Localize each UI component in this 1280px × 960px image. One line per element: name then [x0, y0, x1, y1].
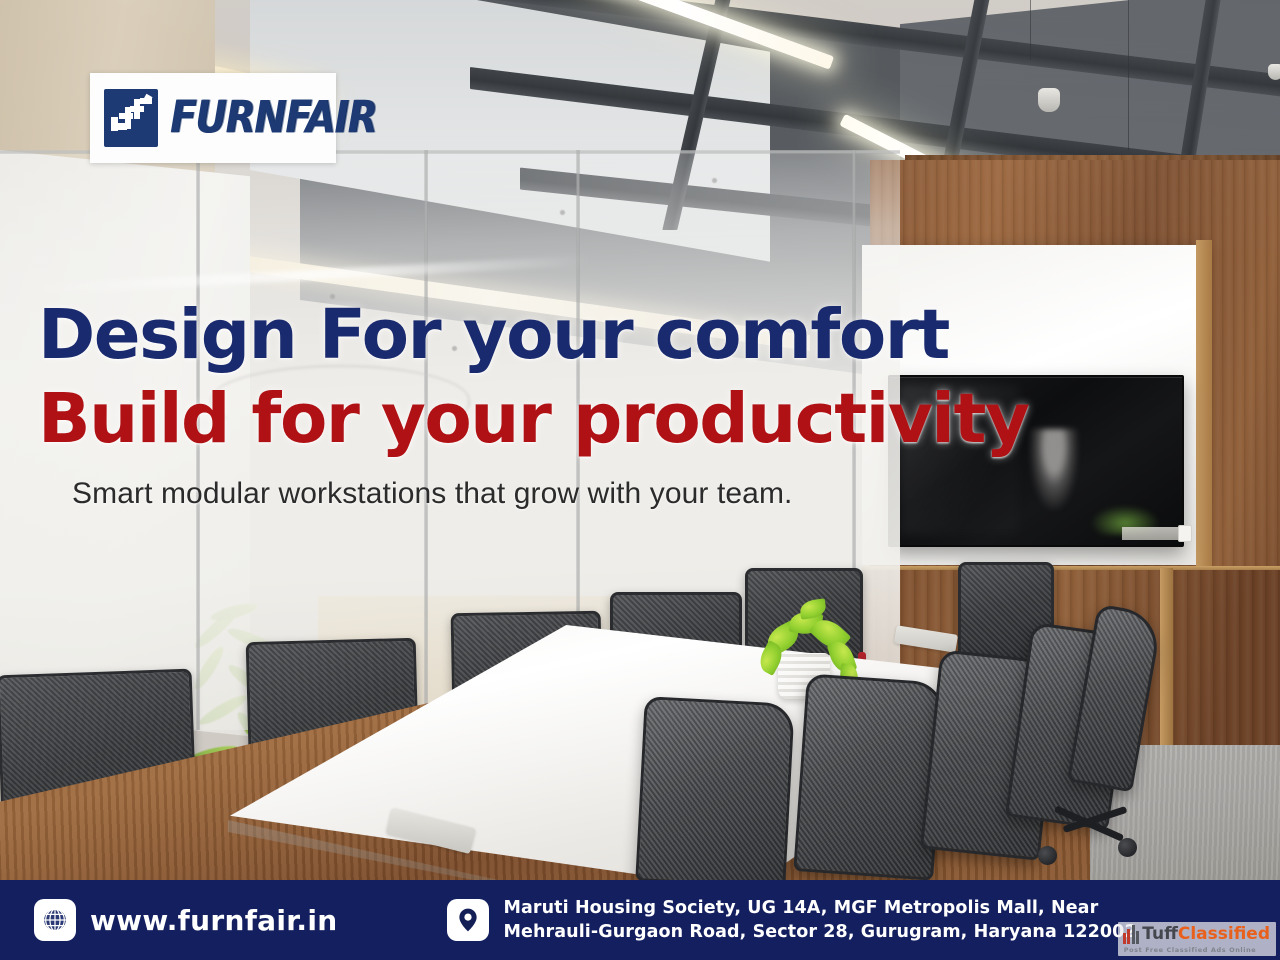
- chair-caster: [1118, 838, 1137, 857]
- furnfair-monogram-icon: [104, 89, 158, 147]
- glass-reflection: [30, 255, 590, 294]
- watermark-bars-icon: [1123, 925, 1140, 944]
- pendant-wire: [1030, 0, 1031, 60]
- company-address: Maruti Housing Society, UG 14A, MGF Metr…: [503, 896, 1136, 944]
- watermark-name-part1: Tuff: [1142, 924, 1178, 944]
- tv-reflection-person: [1030, 429, 1078, 509]
- headline-subtitle: Smart modular workstations that grow wit…: [72, 477, 898, 511]
- headline-line-1: Design For your comfort: [38, 300, 898, 370]
- watermark-name: TuffClassified: [1142, 926, 1270, 943]
- glass-speck: [560, 210, 565, 215]
- tuffclassified-watermark: TuffClassified Post Free Classified Ads …: [1118, 922, 1276, 956]
- location-pin-icon: [447, 899, 489, 941]
- watermark-tagline: Post Free Classified Ads Online: [1124, 946, 1257, 954]
- smoke-detector: [1038, 88, 1060, 112]
- globe-icon: [34, 899, 76, 941]
- office-chair: [793, 673, 946, 880]
- tv-soundbar-reflection: [1122, 527, 1184, 540]
- headline-block: Design For your comfort Build for your p…: [38, 300, 898, 511]
- office-chair: [635, 696, 794, 880]
- wall-socket: [1178, 525, 1192, 542]
- footer-bar: www.furnfair.in Maruti Housing Society, …: [0, 880, 1280, 960]
- website-url[interactable]: www.furnfair.in: [90, 904, 337, 937]
- pendant-wire: [1128, 0, 1129, 150]
- advertisement-banner: FURNFAIR Design For your comfort Build f…: [0, 0, 1280, 960]
- headline-line-2: Build for your productivity: [38, 384, 898, 454]
- website-group[interactable]: www.furnfair.in: [34, 899, 337, 941]
- sprinkler-head: [1268, 64, 1280, 80]
- watermark-logo-row: TuffClassified: [1123, 925, 1270, 944]
- tv-panel-trim: [1196, 240, 1212, 570]
- address-line-2: Mehrauli-Gurgaon Road, Sector 28, Gurugr…: [503, 920, 1136, 944]
- furnfair-wordmark: FURNFAIR: [170, 92, 376, 144]
- address-line-1: Maruti Housing Society, UG 14A, MGF Metr…: [503, 896, 1136, 920]
- watermark-name-part2: Classified: [1178, 924, 1270, 944]
- glass-speck: [712, 178, 717, 183]
- address-group: Maruti Housing Society, UG 14A, MGF Metr…: [447, 896, 1136, 944]
- chair-caster: [1038, 846, 1057, 865]
- furnfair-logo[interactable]: FURNFAIR: [90, 73, 336, 163]
